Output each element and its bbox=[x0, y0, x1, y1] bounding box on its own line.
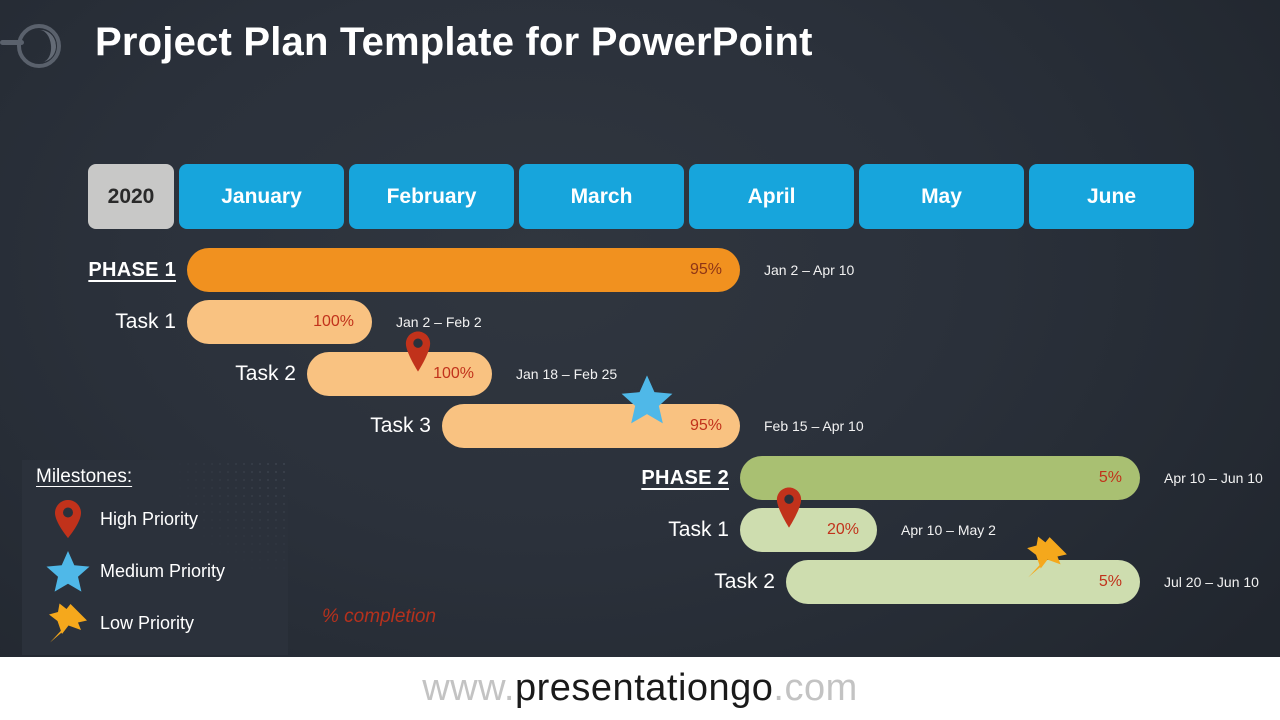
legend-label-high-priority: High Priority bbox=[100, 509, 198, 530]
gantt-bar-percent: 20% bbox=[827, 521, 859, 539]
legend-label-low-priority: Low Priority bbox=[100, 613, 194, 634]
legend-label-medium-priority: Medium Priority bbox=[100, 561, 225, 582]
gantt-bar-percent: 95% bbox=[690, 261, 722, 279]
gantt-row: Task 120%Apr 10 – May 2 bbox=[740, 508, 877, 552]
gantt-row: PHASE 25%Apr 10 – Jun 10 bbox=[740, 456, 1140, 500]
star-icon bbox=[36, 550, 100, 592]
gantt-row-label: PHASE 1 bbox=[88, 248, 187, 292]
gantt-row: Task 395%Feb 15 – Apr 10 bbox=[442, 404, 740, 448]
timeline-month-april[interactable]: April bbox=[689, 164, 854, 229]
gantt-row: Task 25%Jul 20 – Jun 10 bbox=[786, 560, 1140, 604]
gantt-bar[interactable]: 100% bbox=[307, 352, 492, 396]
gantt-row-dates: Jul 20 – Jun 10 bbox=[1164, 560, 1259, 604]
gantt-bar[interactable]: 5% bbox=[786, 560, 1140, 604]
gantt-row-label: Task 1 bbox=[668, 508, 740, 552]
gantt-row-label: Task 3 bbox=[370, 404, 442, 448]
timeline-month-march[interactable]: March bbox=[519, 164, 684, 229]
legend-item-high-priority: High Priority bbox=[36, 496, 198, 542]
gantt-row-dates: Apr 10 – May 2 bbox=[901, 508, 996, 552]
legend-title: Milestones: bbox=[36, 466, 132, 488]
timeline-header: 2020 January February March April May Ju… bbox=[88, 164, 1194, 229]
slide-canvas: Project Plan Template for PowerPoint 202… bbox=[0, 0, 1280, 657]
legend-item-medium-priority: Medium Priority bbox=[36, 548, 225, 594]
timeline-year-cell: 2020 bbox=[88, 164, 174, 229]
timeline-month-may[interactable]: May bbox=[859, 164, 1024, 229]
gantt-bar-percent: 95% bbox=[690, 417, 722, 435]
gantt-bar-percent: 100% bbox=[313, 313, 354, 331]
gantt-bar[interactable]: 100% bbox=[187, 300, 372, 344]
gantt-bar[interactable]: 5% bbox=[740, 456, 1140, 500]
gantt-row-dates: Jan 18 – Feb 25 bbox=[516, 352, 617, 396]
gantt-bar[interactable]: 95% bbox=[187, 248, 740, 292]
gantt-row: PHASE 195%Jan 2 – Apr 10 bbox=[187, 248, 740, 292]
gantt-row-label: Task 1 bbox=[115, 300, 187, 344]
legend-item-low-priority: Low Priority bbox=[36, 600, 194, 646]
footer-brand: presentationgo bbox=[515, 667, 773, 709]
gantt-row-dates: Apr 10 – Jun 10 bbox=[1164, 456, 1263, 500]
gantt-row-label: PHASE 2 bbox=[641, 456, 740, 500]
gantt-bar-percent: 5% bbox=[1099, 469, 1122, 487]
gantt-bar[interactable]: 95% bbox=[442, 404, 740, 448]
pushpin-icon bbox=[36, 601, 100, 645]
footer-suffix: .com bbox=[773, 667, 857, 709]
milestones-legend: Milestones: High Priority Medium Priorit… bbox=[22, 460, 288, 655]
completion-note: % completion bbox=[322, 606, 436, 628]
gantt-row-dates: Feb 15 – Apr 10 bbox=[764, 404, 864, 448]
gantt-row-dates: Jan 2 – Apr 10 bbox=[764, 248, 854, 292]
timeline-month-june[interactable]: June bbox=[1029, 164, 1194, 229]
gantt-bar-percent: 100% bbox=[433, 365, 474, 383]
gantt-row: Task 1100%Jan 2 – Feb 2 bbox=[187, 300, 372, 344]
timeline-month-january[interactable]: January bbox=[179, 164, 344, 229]
decorative-line bbox=[0, 40, 24, 45]
map-pin-icon bbox=[36, 499, 100, 539]
gantt-row-dates: Jan 2 – Feb 2 bbox=[396, 300, 482, 344]
gantt-row-label: Task 2 bbox=[235, 352, 307, 396]
gantt-bar-percent: 5% bbox=[1099, 573, 1122, 591]
footer-prefix: www. bbox=[422, 667, 515, 709]
gantt-row-label: Task 2 bbox=[714, 560, 786, 604]
page-title: Project Plan Template for PowerPoint bbox=[95, 20, 813, 65]
timeline-month-february[interactable]: February bbox=[349, 164, 514, 229]
gantt-row: Task 2100%Jan 18 – Feb 25 bbox=[307, 352, 492, 396]
gantt-bar[interactable]: 20% bbox=[740, 508, 877, 552]
footer-watermark: www.presentationgo.com bbox=[0, 657, 1280, 720]
